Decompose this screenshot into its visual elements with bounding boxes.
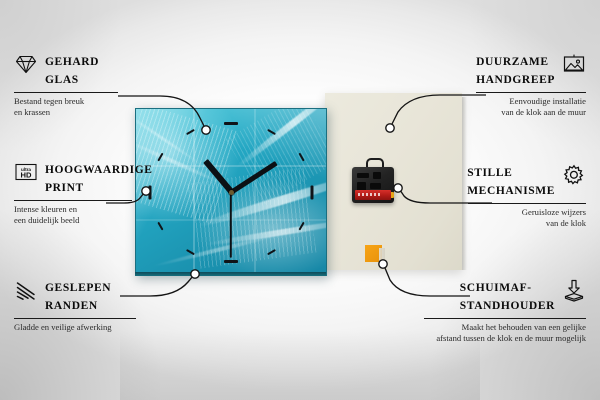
- feature-rule: [14, 92, 118, 93]
- diamond-icon: [14, 52, 38, 76]
- feature-rule: [14, 318, 136, 319]
- foam-spacer: [365, 245, 382, 262]
- aa-battery: [355, 190, 391, 200]
- spacer-arrow-icon: [562, 278, 586, 302]
- feature-duurzame-handgreep[interactable]: DUURZAME HANDGREEP Eenvoudige installati…: [458, 52, 586, 117]
- feature-rule: [14, 200, 132, 201]
- gear-icon: [562, 163, 586, 187]
- feature-description: Bestand tegen breuk en krassen: [14, 96, 142, 117]
- feature-title-line1: HOOGWAARDIGE: [45, 164, 153, 176]
- feature-description: Maakt het behouden van een gelijke afsta…: [412, 322, 586, 343]
- feature-gehard-glas[interactable]: GEHARD GLAS Bestand tegen breuk en krass…: [14, 52, 142, 117]
- feature-rule: [476, 92, 586, 93]
- feature-title-line2: RANDEN: [45, 300, 98, 312]
- feature-rule: [424, 318, 586, 319]
- feature-hoogwaardige-print[interactable]: ultra HD HOOGWAARDIGE PRINT Intense kleu…: [14, 160, 146, 225]
- ultra-hd-icon: ultra HD: [14, 160, 38, 184]
- feature-title-line2: MECHANISME: [467, 185, 555, 197]
- feature-schuimafstandhouder[interactable]: SCHUIMAF- STANDHOUDER Maakt het behouden…: [412, 278, 586, 343]
- feature-description: Eenvoudige installatie van de klok aan d…: [458, 96, 586, 117]
- feature-rule: [468, 203, 586, 204]
- feature-geslepen-randen[interactable]: GESLEPEN RANDEN Gladde en veilige afwerk…: [14, 278, 148, 333]
- infographic-canvas: GEHARD GLAS Bestand tegen breuk en krass…: [0, 0, 600, 400]
- feature-title-line2: GLAS: [45, 74, 79, 86]
- feature-title-line1: SCHUIMAF-: [460, 282, 532, 294]
- feature-title-line1: GEHARD: [45, 56, 99, 68]
- clock-bottom-edge: [135, 272, 326, 276]
- picture-frame-icon: [562, 52, 586, 76]
- clock-face: [135, 108, 327, 276]
- feature-description: Intense kleuren en een duidelijk beeld: [14, 204, 146, 225]
- feature-title-line2: STANDHOUDER: [460, 300, 555, 312]
- feature-title-line1: GESLEPEN: [45, 282, 111, 294]
- feature-title-line2: PRINT: [45, 182, 84, 194]
- feature-stille-mechanisme[interactable]: STILLE MECHANISME Geruisloze wijzers van…: [452, 163, 586, 228]
- feature-title-line1: DUURZAME: [476, 56, 549, 68]
- feature-title-line2: HANDGREEP: [476, 74, 555, 86]
- feature-description: Gladde en veilige afwerking: [14, 322, 148, 333]
- svg-text:HD: HD: [21, 171, 32, 180]
- beveled-edges-icon: [14, 278, 38, 302]
- feature-title-line1: STILLE: [467, 167, 512, 179]
- feature-description: Geruisloze wijzers van de klok: [452, 207, 586, 228]
